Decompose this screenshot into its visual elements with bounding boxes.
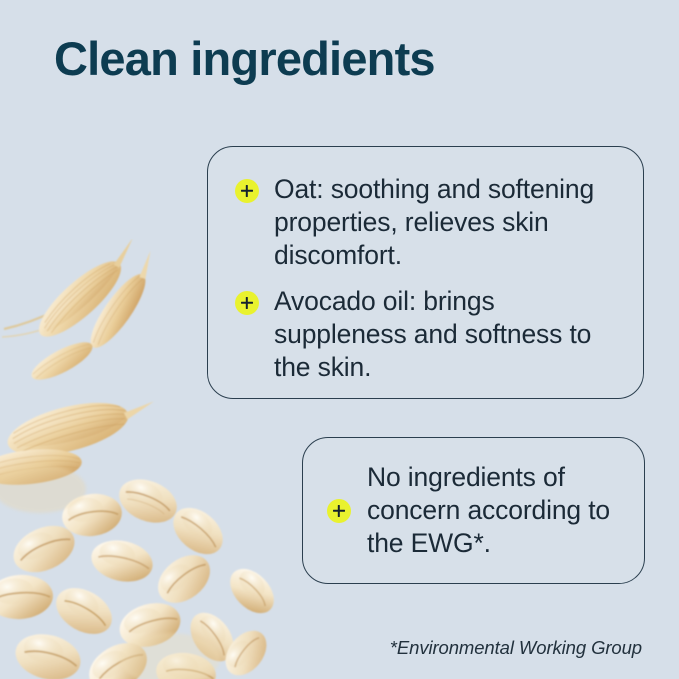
plus-icon [235, 291, 259, 315]
page-title: Clean ingredients [54, 32, 435, 86]
card-ewg: No ingredients of concern according to t… [302, 437, 645, 584]
footnote: *Environmental Working Group [390, 637, 642, 659]
list-item: Oat: soothing and softening properties, … [208, 173, 643, 272]
list-item-label: Oat: soothing and softening properties, … [274, 173, 619, 272]
plus-icon [235, 179, 259, 203]
list-item: Avocado oil: brings suppleness and softn… [208, 285, 643, 384]
product-claims-graphic: Clean ingredients Oat: soothing and soft… [0, 0, 679, 679]
plus-icon [327, 499, 351, 523]
list-item-label: No ingredients of concern according to t… [367, 461, 632, 560]
list-item: No ingredients of concern according to t… [303, 461, 632, 560]
list-item-label: Avocado oil: brings suppleness and softn… [274, 285, 619, 384]
card-ingredients: Oat: soothing and softening properties, … [207, 146, 644, 399]
